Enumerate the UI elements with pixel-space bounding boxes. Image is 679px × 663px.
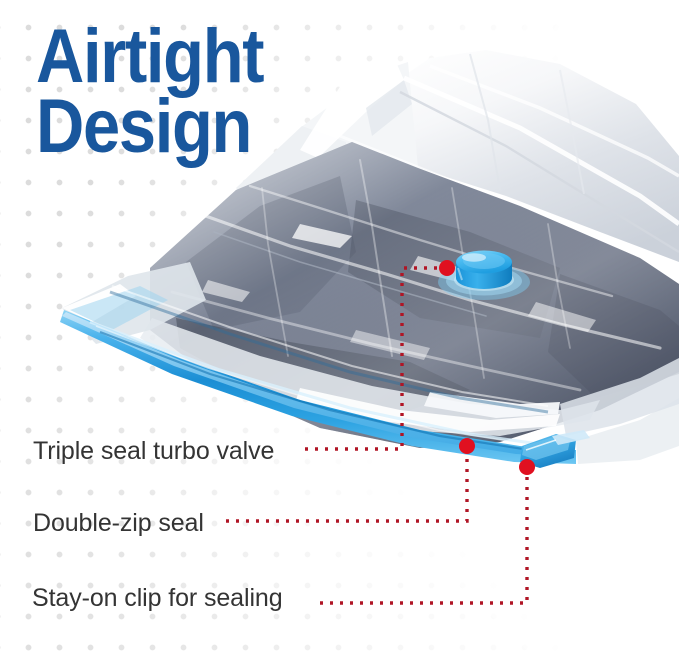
product-feature-banner: Airtight Design Triple seal turbo valve … <box>0 0 679 663</box>
callout-label-stay-on-clip-for-sealing: Stay-on clip for sealing <box>32 584 283 613</box>
callout-label-double-zip-seal: Double-zip seal <box>33 509 204 538</box>
callout-label-triple-seal-turbo-valve: Triple seal turbo valve <box>33 437 274 466</box>
vacuum-storage-bag-image <box>0 0 679 663</box>
